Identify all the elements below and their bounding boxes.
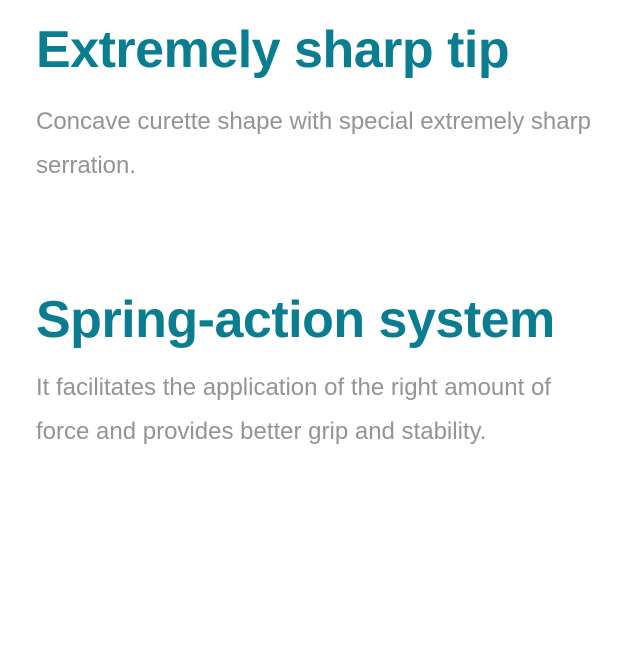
feature-description: It facilitates the application of the ri…	[36, 366, 608, 454]
feature-block-extremely-sharp-tip: Extremely sharp tip Concave curette shap…	[36, 22, 608, 188]
feature-list-page: Extremely sharp tip Concave curette shap…	[0, 0, 644, 652]
feature-block-spring-action-system: Spring-action system It facilitates the …	[36, 292, 608, 454]
feature-heading: Spring-action system	[36, 292, 608, 348]
feature-description: Concave curette shape with special extre…	[36, 100, 608, 188]
feature-heading: Extremely sharp tip	[36, 22, 608, 78]
